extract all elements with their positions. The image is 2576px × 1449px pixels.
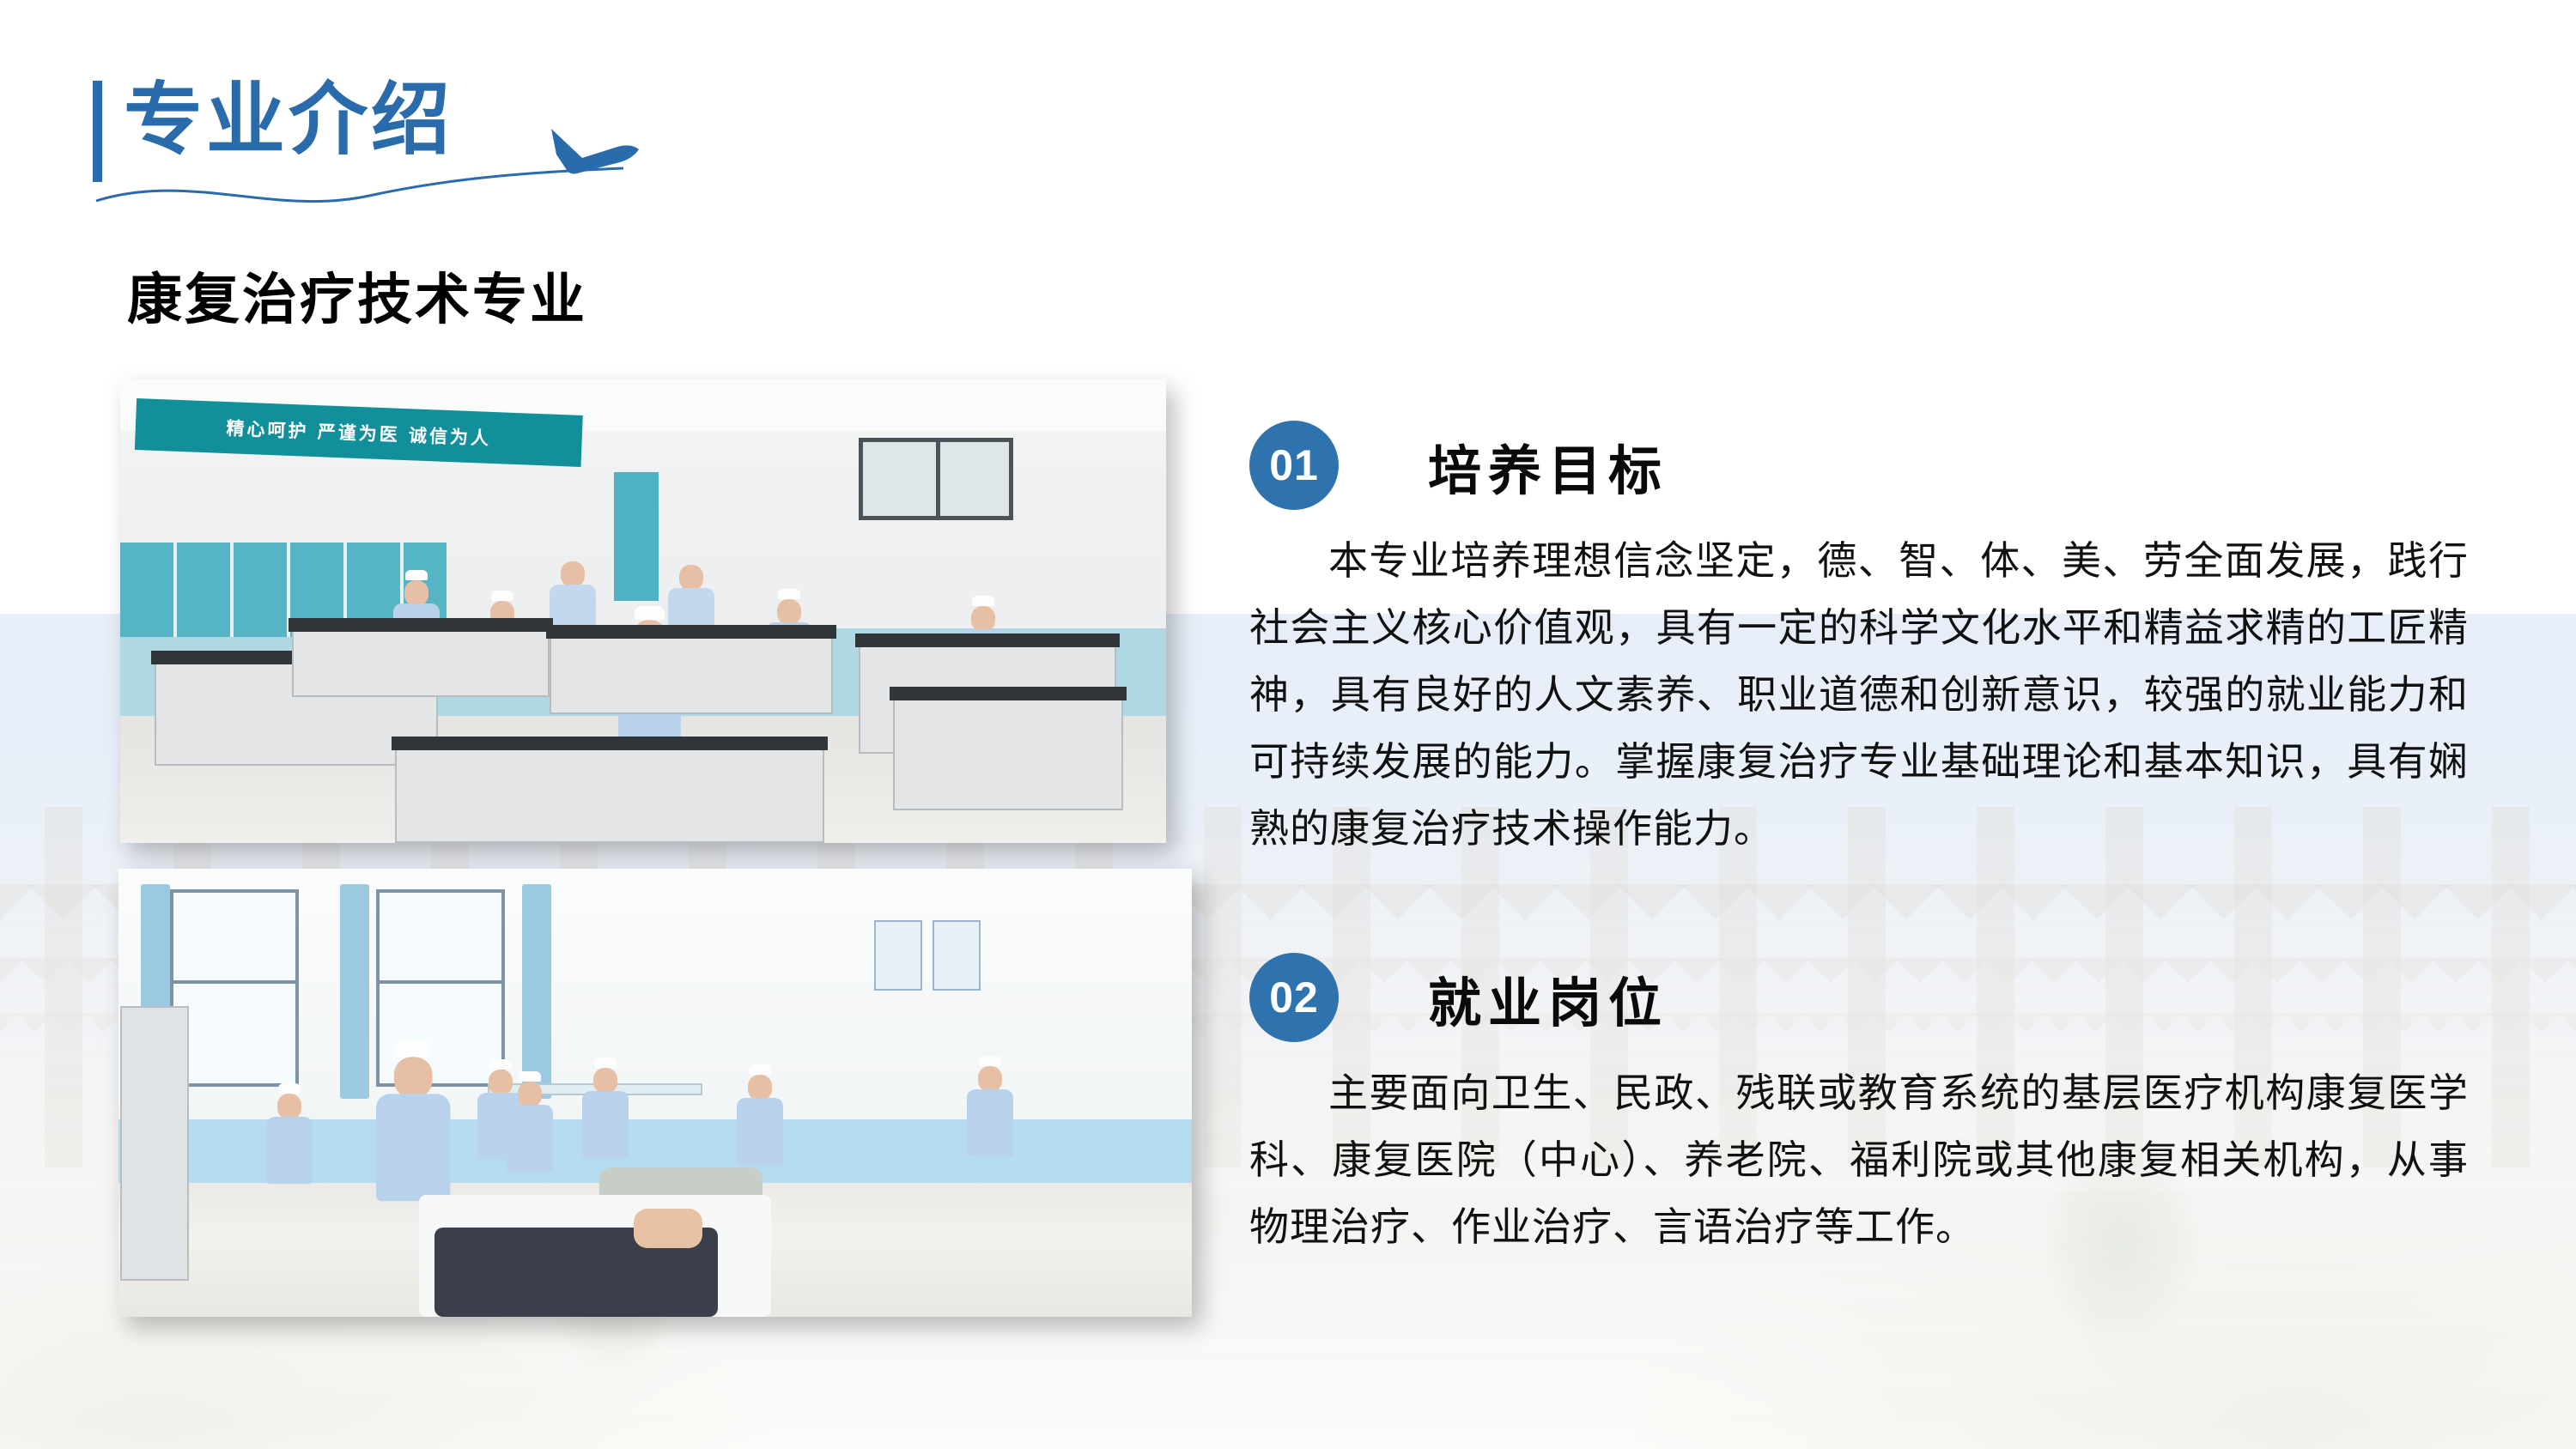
lab-door (614, 472, 659, 601)
lab-window (859, 438, 1013, 520)
ward-instructor (376, 1040, 450, 1201)
lab-bench (292, 630, 550, 697)
ward-student (582, 1058, 629, 1158)
rehabilitation-ward-photo (118, 869, 1192, 1317)
ward-curtain (522, 884, 551, 1099)
section-title: 培养目标 (1428, 427, 1668, 505)
lab-bench (893, 699, 1123, 810)
ward-poster (874, 920, 922, 991)
section-number-badge: 01 (1249, 421, 1339, 510)
ward-student (507, 1071, 553, 1172)
section-employment-positions: 02 就业岗位 主要面向卫生、民政、残联或教育系统的基层医疗机构康复医学科、康复… (1249, 953, 2469, 1260)
ward-poster (933, 920, 981, 991)
section-title: 就业岗位 (1428, 960, 1668, 1037)
lab-bench (395, 749, 824, 843)
lab-bench (550, 637, 833, 714)
ward-cabinet (120, 1006, 189, 1281)
ward-student (967, 1056, 1013, 1156)
section-body-text: 主要面向卫生、民政、残联或教育系统的基层医疗机构康复医学科、康复医院（中心）、养… (1249, 1059, 2469, 1260)
ward-curtain (340, 884, 369, 1099)
header-wave-line (94, 167, 627, 208)
ward-window (170, 889, 299, 1087)
slide-page: 专业介绍 康复治疗技术专业 精心呵护 严谨为医 诚信为人 (0, 0, 2576, 1449)
ward-patient-feet (634, 1209, 702, 1248)
section-body-text: 本专业培养理想信念坚定，德、智、体、美、劳全面发展，践行社会主义核心价值观，具有… (1249, 527, 2469, 862)
page-title: 专业介绍 (124, 70, 453, 169)
page-header: 专业介绍 (93, 76, 642, 187)
major-name: 康复治疗技术专业 (127, 256, 587, 335)
rehabilitation-lab-photo: 精心呵护 严谨为医 诚信为人 (120, 379, 1166, 843)
ward-student (737, 1064, 783, 1165)
section-training-objectives: 01 培养目标 本专业培养理想信念坚定，德、智、体、美、劳全面发展，践行社会主义… (1249, 421, 2469, 862)
section-header: 01 培养目标 (1249, 421, 2469, 515)
section-number-badge: 02 (1249, 953, 1339, 1042)
section-header: 02 就业岗位 (1249, 953, 2469, 1047)
ward-student (266, 1083, 313, 1184)
